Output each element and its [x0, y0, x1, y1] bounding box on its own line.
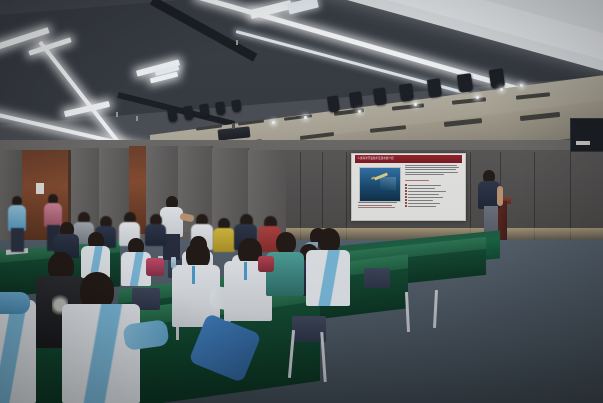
sprinkler-head-1: [236, 40, 238, 45]
lecture-hall-photo: 人类海洋开发技术及潜水器介绍: [0, 0, 603, 403]
slide-bullet: [405, 184, 459, 186]
backpack-2: [258, 256, 274, 272]
door-notice-sign: [36, 183, 44, 194]
spotlight-7: [349, 91, 363, 109]
spotlight-12: [489, 68, 506, 89]
speaker-arm: [497, 186, 503, 206]
downlight-7: [520, 84, 523, 87]
projection-screen: 人类海洋开发技术及潜水器介绍: [351, 153, 466, 221]
slide-image-caption: [358, 202, 401, 211]
attendee-f4-body: [145, 224, 166, 246]
attendee-n5-body: [306, 250, 350, 306]
slide-bullet: [405, 199, 459, 201]
attendee-edge-shoulder: [0, 292, 30, 314]
attendee-n3-lanyard: [192, 266, 195, 284]
attendee-n2-body: [62, 304, 140, 403]
slide-title-banner: 人类海洋开发技术及潜水器介绍: [355, 155, 461, 163]
ceiling: [0, 0, 603, 160]
spotlight-6: [327, 95, 340, 112]
attendee-n6-head: [276, 232, 296, 254]
slide-bullet: [405, 202, 459, 204]
sprinkler-head-3: [136, 116, 138, 121]
slide-bullet: [405, 193, 459, 195]
slide-bullet: [405, 190, 459, 192]
wall-speaker-box: [570, 118, 603, 152]
projector-mount: [232, 123, 235, 129]
spotlight-10: [427, 78, 442, 98]
downlight-4: [414, 103, 417, 106]
presentation-slide: 人类海洋开发技术及潜水器介绍: [352, 154, 465, 220]
underwater-light-beam: [380, 177, 396, 190]
slide-bullet: [405, 205, 459, 207]
backpack-1: [146, 258, 164, 276]
attendee-edge-body: [0, 300, 36, 403]
downlight-6: [500, 88, 503, 91]
slide-body-text: [405, 165, 459, 215]
wall-speaker-label: [576, 141, 590, 145]
water-bottle-2[interactable]: [171, 257, 176, 268]
slide-image-submersible: [359, 167, 402, 202]
staff-2-body: [44, 203, 62, 227]
spotlight-11: [457, 73, 473, 93]
attendee-f6-body: [213, 228, 235, 252]
slide-bullet: [405, 196, 459, 198]
sprinkler-head-2: [116, 112, 118, 117]
spotlight-4: [215, 101, 226, 115]
chair-4[interactable]: [364, 268, 390, 288]
staff-1-legs: [11, 228, 24, 252]
downlight-5: [476, 96, 479, 99]
slide-bullet: [405, 187, 459, 189]
downlight-2: [304, 116, 307, 119]
slide-title-text: 人类海洋开发技术及潜水器介绍: [355, 155, 461, 161]
spotlight-3: [199, 103, 210, 117]
spotlight-5: [231, 99, 242, 112]
downlight-3: [358, 110, 361, 113]
downlight-1: [272, 121, 275, 124]
attendee-n4-lanyard: [244, 262, 247, 280]
spotlight-9: [399, 83, 414, 102]
spotlight-8: [373, 87, 387, 106]
